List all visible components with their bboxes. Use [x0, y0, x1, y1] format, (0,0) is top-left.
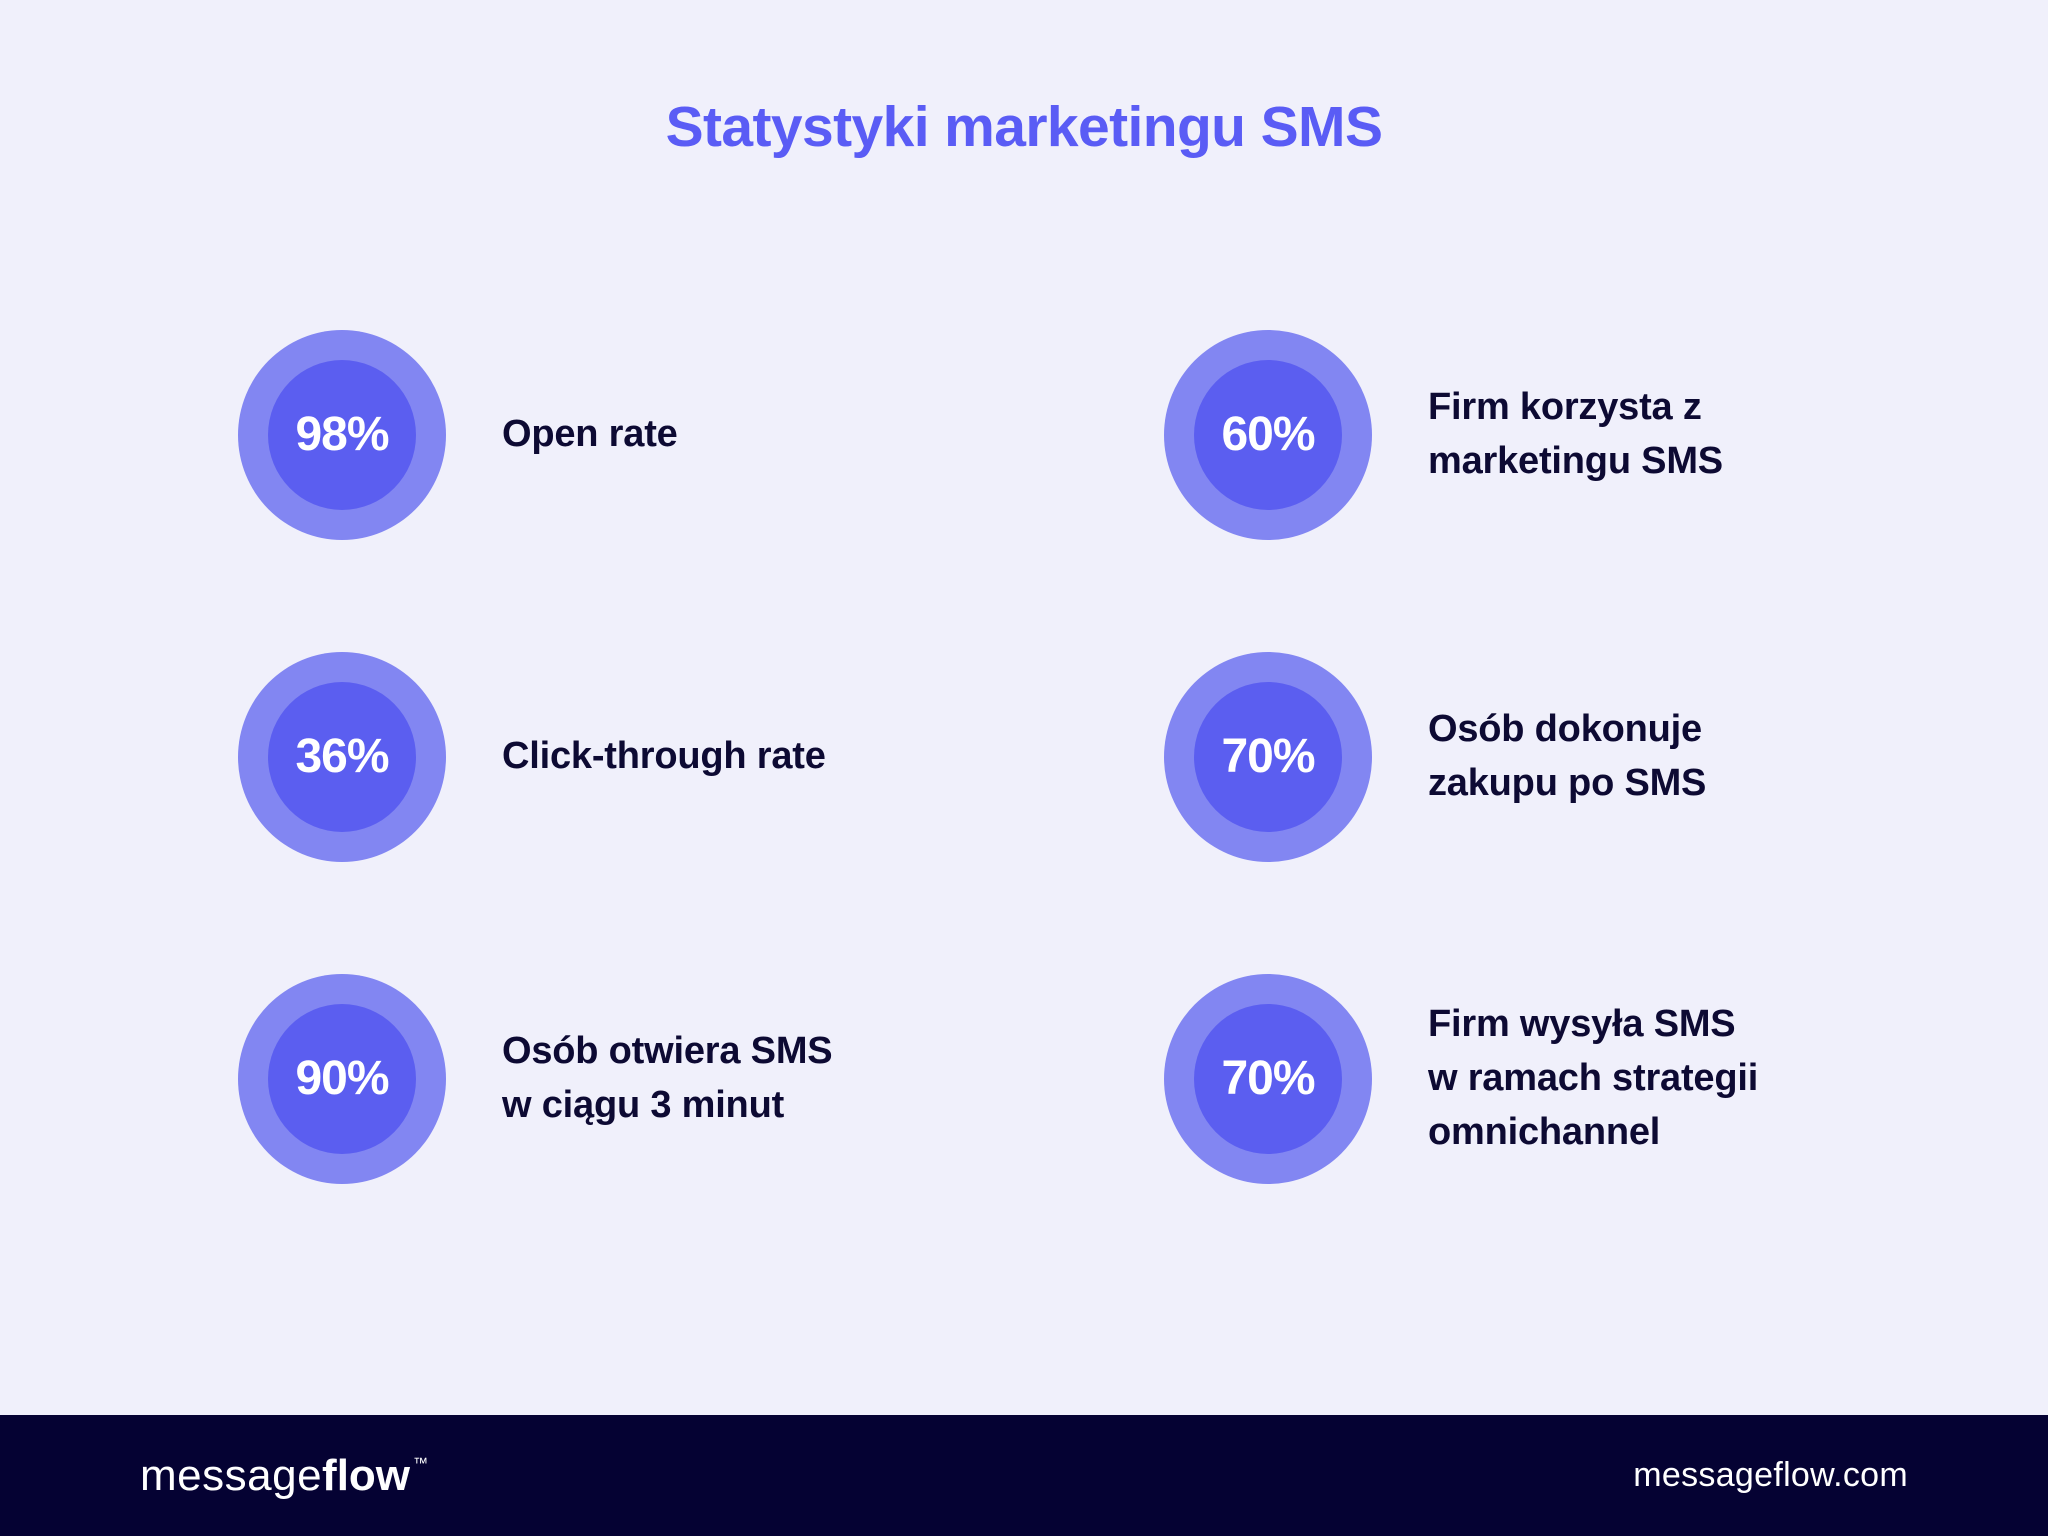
logo-text-light: message — [140, 1454, 322, 1498]
stat-badge-inner: 70% — [1194, 682, 1342, 832]
stat-badge: 70% — [1164, 974, 1372, 1184]
logo-text-bold: flow — [322, 1454, 410, 1498]
stat-label: Open rate — [502, 408, 678, 462]
infographic-poster: Statystyki marketingu SMS 98% Open rate … — [0, 0, 2048, 1536]
stat-badge: 60% — [1164, 330, 1372, 540]
stat-label: Firm wysyła SMS w ramach strategii omnic… — [1428, 998, 1758, 1160]
stat-value: 90% — [295, 1055, 388, 1103]
page-title: Statystyki marketingu SMS — [0, 96, 2048, 159]
stat-badge-inner: 60% — [1194, 360, 1342, 510]
messageflow-logo: messageflow™ — [140, 1454, 429, 1498]
stat-item: 60% Firm korzysta z marketingu SMS — [1164, 330, 1723, 540]
stat-badge-inner: 36% — [268, 682, 416, 832]
site-url: messageflow.com — [1633, 1456, 1908, 1495]
footer-bar: messageflow™ messageflow.com — [0, 1415, 2048, 1536]
stat-badge: 36% — [238, 652, 446, 862]
stat-item: 36% Click-through rate — [238, 652, 826, 862]
stat-label: Osób dokonuje zakupu po SMS — [1428, 703, 1706, 811]
trademark-icon: ™ — [413, 1456, 429, 1471]
stat-item: 70% Firm wysyła SMS w ramach strategii o… — [1164, 974, 1758, 1184]
stat-item: 90% Osób otwiera SMS w ciągu 3 minut — [238, 974, 832, 1184]
stat-value: 70% — [1221, 733, 1314, 781]
stat-value: 98% — [295, 411, 388, 459]
stat-value: 70% — [1221, 1055, 1314, 1103]
stats-grid: 98% Open rate 36% Click-through rate 90% — [0, 330, 2048, 1230]
stat-item: 98% Open rate — [238, 330, 678, 540]
stat-badge: 70% — [1164, 652, 1372, 862]
stat-badge-inner: 90% — [268, 1004, 416, 1154]
stat-badge: 90% — [238, 974, 446, 1184]
stat-badge: 98% — [238, 330, 446, 540]
stat-badge-inner: 70% — [1194, 1004, 1342, 1154]
stat-value: 36% — [295, 733, 388, 781]
stat-item: 70% Osób dokonuje zakupu po SMS — [1164, 652, 1706, 862]
stat-label: Firm korzysta z marketingu SMS — [1428, 381, 1723, 489]
stat-badge-inner: 98% — [268, 360, 416, 510]
stat-label: Osób otwiera SMS w ciągu 3 minut — [502, 1025, 832, 1133]
stat-label: Click-through rate — [502, 730, 826, 784]
stats-column-right: 60% Firm korzysta z marketingu SMS 70% O… — [1164, 330, 2024, 1230]
stats-column-left: 98% Open rate 36% Click-through rate 90% — [238, 330, 1098, 1230]
stat-value: 60% — [1221, 411, 1314, 459]
